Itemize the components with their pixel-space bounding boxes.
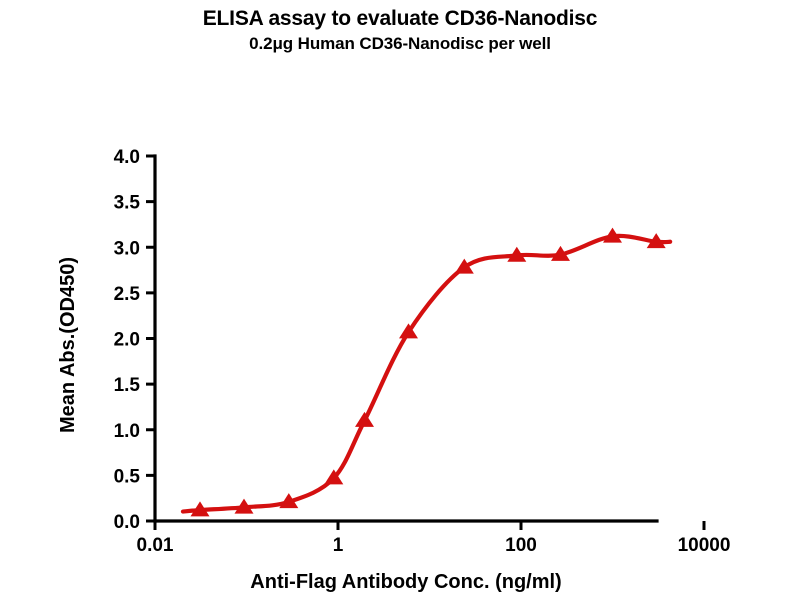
- y-tick-label: 1.0: [114, 421, 140, 442]
- chart-figure: ELISA assay to evaluate CD36-Nanodisc 0.…: [0, 0, 800, 600]
- y-tick-label: 2.5: [114, 284, 141, 305]
- y-tick-label: 3.5: [114, 193, 141, 214]
- plot-area: 0.00.51.01.52.02.53.03.54.0 0.0111001000…: [0, 0, 800, 600]
- y-axis-title: Mean Abs.(OD450): [57, 257, 79, 433]
- y-tick-label: 0.5: [114, 466, 141, 487]
- x-axis-title: Anti-Flag Antibody Conc. (ng/ml): [250, 571, 561, 593]
- y-tick-label: 4.0: [114, 147, 140, 168]
- data-series-curve: [183, 236, 670, 512]
- x-tick-label: 0.01: [137, 535, 174, 556]
- y-tick-label: 2.0: [114, 330, 140, 351]
- data-point-marker: [455, 259, 474, 274]
- x-tick-label: 1: [333, 535, 344, 556]
- x-tick-label: 10000: [678, 535, 731, 556]
- y-tick-label: 3.0: [114, 238, 140, 259]
- data-point-markers: [191, 228, 666, 517]
- x-tick-label: 100: [505, 535, 537, 556]
- y-axis-ticks: 0.00.51.01.52.02.53.03.54.0: [114, 147, 155, 533]
- x-axis-ticks: 0.01110010000: [137, 521, 731, 556]
- data-point-marker: [355, 412, 374, 427]
- y-tick-label: 0.0: [114, 512, 140, 533]
- y-tick-label: 1.5: [114, 375, 141, 396]
